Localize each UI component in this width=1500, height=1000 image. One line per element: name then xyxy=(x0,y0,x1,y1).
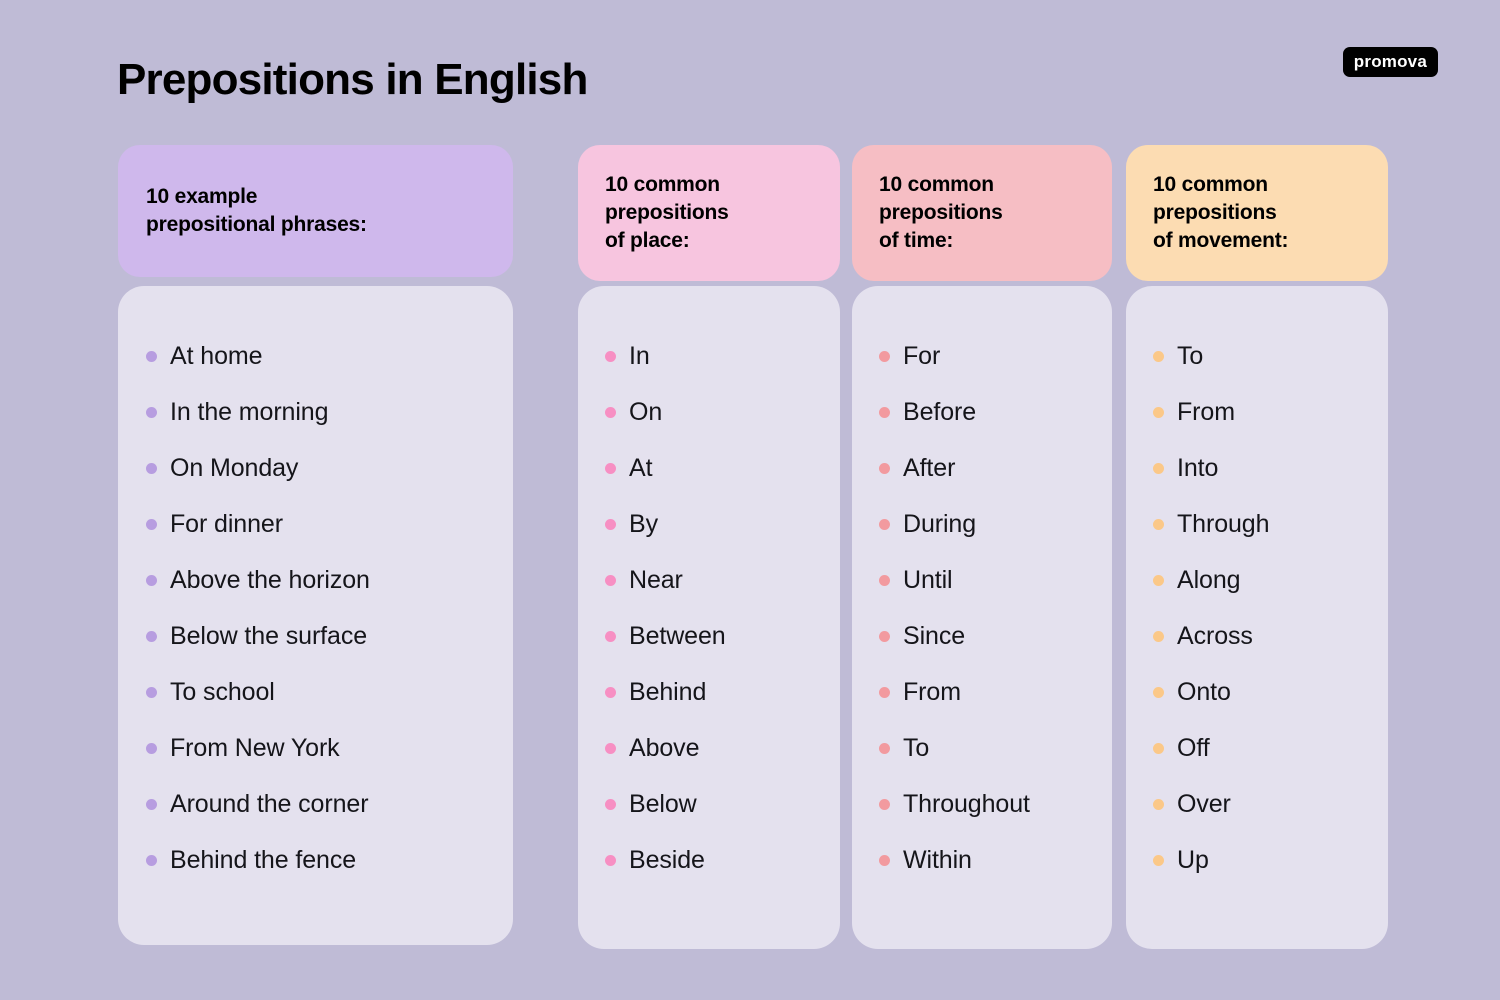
bullet-icon xyxy=(605,407,616,418)
bullet-icon xyxy=(605,631,616,642)
list-item-label: Before xyxy=(903,400,976,425)
list-item-label: Behind xyxy=(629,680,706,705)
list-item: Before xyxy=(879,384,1088,440)
bullet-icon xyxy=(605,351,616,362)
list-item: Until xyxy=(879,552,1088,608)
page-title: Prepositions in English xyxy=(117,55,588,105)
list-item: Since xyxy=(879,608,1088,664)
list-item-label: Behind the fence xyxy=(170,848,356,873)
bullet-icon xyxy=(146,519,157,530)
list-item-label: At home xyxy=(170,344,262,369)
list-item-label: To xyxy=(1177,344,1203,369)
list-item-label: Throughout xyxy=(903,792,1030,817)
list-item-label: From xyxy=(1177,400,1235,425)
list-item: Within xyxy=(879,832,1088,888)
bullet-icon xyxy=(605,463,616,474)
list-item-label: Near xyxy=(629,568,683,593)
promova-logo: promova xyxy=(1343,47,1438,77)
column-header-card: 10 common prepositions of time: xyxy=(852,145,1112,281)
list-item: From xyxy=(1153,384,1364,440)
list-item: To xyxy=(1153,328,1364,384)
list-item: For xyxy=(879,328,1088,384)
column-header-title: 10 common prepositions of time: xyxy=(879,171,1003,255)
page-header: Prepositions in English promova xyxy=(0,0,1500,145)
column-header-card: 10 example prepositional phrases: xyxy=(118,145,513,277)
bullet-icon xyxy=(879,575,890,586)
list-item-label: Around the corner xyxy=(170,792,368,817)
list-item-label: After xyxy=(903,456,955,481)
list-item-label: At xyxy=(629,456,652,481)
list-item: On Monday xyxy=(146,440,489,496)
list-item: Near xyxy=(605,552,816,608)
list-item-label: To school xyxy=(170,680,275,705)
list-item: In the morning xyxy=(146,384,489,440)
list-item-label: For dinner xyxy=(170,512,283,537)
bullet-icon xyxy=(1153,407,1164,418)
list-item: Through xyxy=(1153,496,1364,552)
list-item-label: On xyxy=(629,400,662,425)
preposition-list: In On At By Near xyxy=(605,328,816,888)
list-item-label: By xyxy=(629,512,658,537)
bullet-icon xyxy=(146,575,157,586)
list-item: Beside xyxy=(605,832,816,888)
bullet-icon xyxy=(1153,687,1164,698)
list-item: From New York xyxy=(146,720,489,776)
bullet-icon xyxy=(605,519,616,530)
list-item-label: Across xyxy=(1177,624,1253,649)
bullet-icon xyxy=(879,687,890,698)
list-item-label: In the morning xyxy=(170,400,328,425)
column-body-card: In On At By Near xyxy=(578,286,840,949)
list-item: To xyxy=(879,720,1088,776)
bullet-icon xyxy=(146,799,157,810)
list-item-label: From xyxy=(903,680,961,705)
list-item-label: Below xyxy=(629,792,697,817)
list-item: Above xyxy=(605,720,816,776)
list-item: Below the surface xyxy=(146,608,489,664)
preposition-list: For Before After During Until xyxy=(879,328,1088,888)
list-item-label: Since xyxy=(903,624,965,649)
bullet-icon xyxy=(146,855,157,866)
list-item: Across xyxy=(1153,608,1364,664)
column-body-card: To From Into Through Along xyxy=(1126,286,1388,949)
bullet-icon xyxy=(146,463,157,474)
preposition-list: To From Into Through Along xyxy=(1153,328,1364,888)
list-item: To school xyxy=(146,664,489,720)
bullet-icon xyxy=(605,575,616,586)
bullet-icon xyxy=(1153,351,1164,362)
list-item-label: Above the horizon xyxy=(170,568,370,593)
list-item: Throughout xyxy=(879,776,1088,832)
bullet-icon xyxy=(146,351,157,362)
list-item-label: Up xyxy=(1177,848,1209,873)
list-item: Between xyxy=(605,608,816,664)
list-item-label: Until xyxy=(903,568,953,593)
bullet-icon xyxy=(879,799,890,810)
list-item: Behind xyxy=(605,664,816,720)
bullet-icon xyxy=(605,743,616,754)
column-body-card: At home In the morning On Monday For din… xyxy=(118,286,513,945)
bullet-icon xyxy=(1153,855,1164,866)
list-item-label: Onto xyxy=(1177,680,1231,705)
bullet-icon xyxy=(1153,519,1164,530)
bullet-icon xyxy=(879,351,890,362)
list-item: At home xyxy=(146,328,489,384)
column-prepositions-of-movement: 10 common prepositions of movement: To F… xyxy=(1126,145,1388,949)
column-header-card: 10 common prepositions of movement: xyxy=(1126,145,1388,281)
list-item-label: Over xyxy=(1177,792,1231,817)
columns-container: 10 example prepositional phrases: At hom… xyxy=(0,145,1500,945)
column-prepositions-of-time: 10 common prepositions of time: For Befo… xyxy=(852,145,1112,949)
list-item-label: To xyxy=(903,736,929,761)
bullet-icon xyxy=(879,463,890,474)
list-item-label: Along xyxy=(1177,568,1240,593)
list-item: Off xyxy=(1153,720,1364,776)
list-item-label: Above xyxy=(629,736,699,761)
list-item-label: Into xyxy=(1177,456,1218,481)
column-header-title: 10 common prepositions of place: xyxy=(605,171,729,255)
bullet-icon xyxy=(605,799,616,810)
bullet-icon xyxy=(146,631,157,642)
column-header-title: 10 example prepositional phrases: xyxy=(146,183,367,239)
column-prepositions-of-place: 10 common prepositions of place: In On A… xyxy=(578,145,840,949)
bullet-icon xyxy=(1153,575,1164,586)
list-item: From xyxy=(879,664,1088,720)
list-item: Up xyxy=(1153,832,1364,888)
list-item: By xyxy=(605,496,816,552)
list-item: For dinner xyxy=(146,496,489,552)
column-header-card: 10 common prepositions of place: xyxy=(578,145,840,281)
list-item: Around the corner xyxy=(146,776,489,832)
bullet-icon xyxy=(879,631,890,642)
list-item: Below xyxy=(605,776,816,832)
bullet-icon xyxy=(1153,463,1164,474)
list-item-label: Within xyxy=(903,848,972,873)
bullet-icon xyxy=(146,687,157,698)
bullet-icon xyxy=(879,519,890,530)
list-item-label: For xyxy=(903,344,940,369)
bullet-icon xyxy=(879,407,890,418)
column-header-title: 10 common prepositions of movement: xyxy=(1153,171,1288,255)
list-item: On xyxy=(605,384,816,440)
list-item-label: Through xyxy=(1177,512,1269,537)
list-item: Into xyxy=(1153,440,1364,496)
list-item-label: On Monday xyxy=(170,456,298,481)
list-item-label: In xyxy=(629,344,650,369)
column-example-phrases: 10 example prepositional phrases: At hom… xyxy=(118,145,513,945)
column-body-card: For Before After During Until xyxy=(852,286,1112,949)
list-item-label: Off xyxy=(1177,736,1210,761)
list-item-label: Beside xyxy=(629,848,705,873)
bullet-icon xyxy=(1153,799,1164,810)
bullet-icon xyxy=(879,743,890,754)
list-item-label: Between xyxy=(629,624,726,649)
list-item: Over xyxy=(1153,776,1364,832)
list-item: At xyxy=(605,440,816,496)
list-item: In xyxy=(605,328,816,384)
list-item: Along xyxy=(1153,552,1364,608)
bullet-icon xyxy=(146,407,157,418)
preposition-list: At home In the morning On Monday For din… xyxy=(146,328,489,888)
list-item: Onto xyxy=(1153,664,1364,720)
list-item-label: During xyxy=(903,512,976,537)
bullet-icon xyxy=(146,743,157,754)
bullet-icon xyxy=(605,855,616,866)
bullet-icon xyxy=(605,687,616,698)
list-item-label: From New York xyxy=(170,736,340,761)
list-item: Behind the fence xyxy=(146,832,489,888)
bullet-icon xyxy=(1153,743,1164,754)
list-item: After xyxy=(879,440,1088,496)
list-item-label: Below the surface xyxy=(170,624,367,649)
list-item: During xyxy=(879,496,1088,552)
bullet-icon xyxy=(1153,631,1164,642)
bullet-icon xyxy=(879,855,890,866)
list-item: Above the horizon xyxy=(146,552,489,608)
